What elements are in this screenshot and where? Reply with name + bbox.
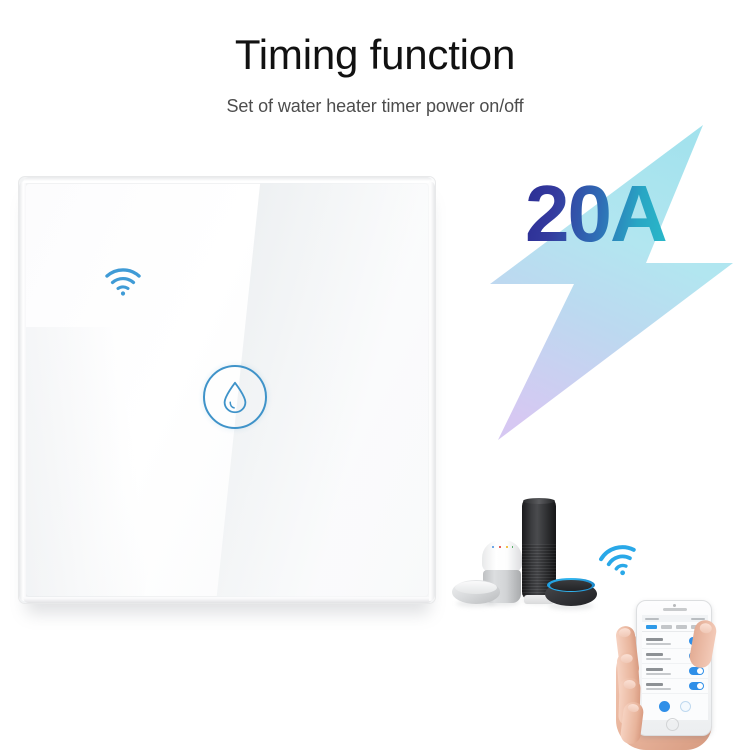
row-sub-line — [646, 658, 671, 660]
google-home-top — [482, 540, 522, 572]
wifi-icon — [598, 542, 642, 578]
app-action-buttons — [642, 696, 708, 712]
tab-1[interactable] — [646, 625, 657, 629]
google-home-mini-top — [455, 581, 497, 594]
row-sub-line — [646, 673, 671, 675]
timer-row-label — [646, 653, 671, 660]
timer-toggle[interactable] — [689, 682, 704, 690]
tab-3[interactable] — [676, 625, 687, 629]
front-camera — [673, 604, 676, 607]
product-marketing-image: Timing function Set of water heater time… — [0, 0, 750, 750]
secondary-action-button[interactable] — [680, 701, 691, 712]
page-title: Timing function — [0, 32, 750, 78]
status-bar-left — [645, 618, 659, 620]
thumbnail — [699, 622, 713, 634]
echo-top-ring — [523, 498, 555, 504]
amperage-label: 20A — [525, 174, 666, 254]
water-heater-touch-button[interactable] — [203, 365, 267, 429]
row-title-line — [646, 638, 663, 641]
fingernail — [623, 680, 635, 689]
earpiece-speaker — [663, 608, 687, 611]
timer-toggle[interactable] — [689, 667, 704, 675]
row-title-line — [646, 683, 663, 686]
amperage-badge: 20A — [470, 118, 750, 470]
app-demo-hand-phone — [596, 540, 750, 750]
fingernail — [627, 703, 639, 712]
wifi-icon — [103, 265, 143, 297]
home-button[interactable] — [666, 718, 679, 731]
google-home-led-dots — [491, 544, 513, 550]
product-switch-panel — [18, 176, 436, 606]
google-home-mini-speaker — [452, 580, 500, 606]
timer-row-label — [646, 683, 671, 690]
panel-bevel-top — [23, 177, 433, 183]
add-timer-button[interactable] — [659, 701, 670, 712]
timer-row-4[interactable] — [642, 679, 708, 694]
page-subtitle: Set of water heater timer power on/off — [0, 96, 750, 117]
panel-glass-body — [18, 176, 436, 604]
row-sub-line — [646, 643, 671, 645]
timer-row-label — [646, 638, 671, 645]
echo-dot-top-face — [550, 580, 592, 591]
fingernail — [620, 654, 633, 664]
water-drop-icon — [222, 381, 248, 414]
tab-2[interactable] — [661, 625, 672, 629]
panel-bevel-bottom — [23, 597, 433, 603]
row-title-line — [646, 653, 663, 656]
row-sub-line — [646, 688, 671, 690]
fingernail — [618, 628, 631, 638]
timer-row-label — [646, 668, 671, 675]
amazon-echo-dot-speaker — [545, 578, 597, 608]
panel-bevel-right — [429, 181, 435, 601]
hand — [608, 582, 736, 750]
row-title-line — [646, 668, 663, 671]
panel-bevel-left — [19, 181, 26, 601]
